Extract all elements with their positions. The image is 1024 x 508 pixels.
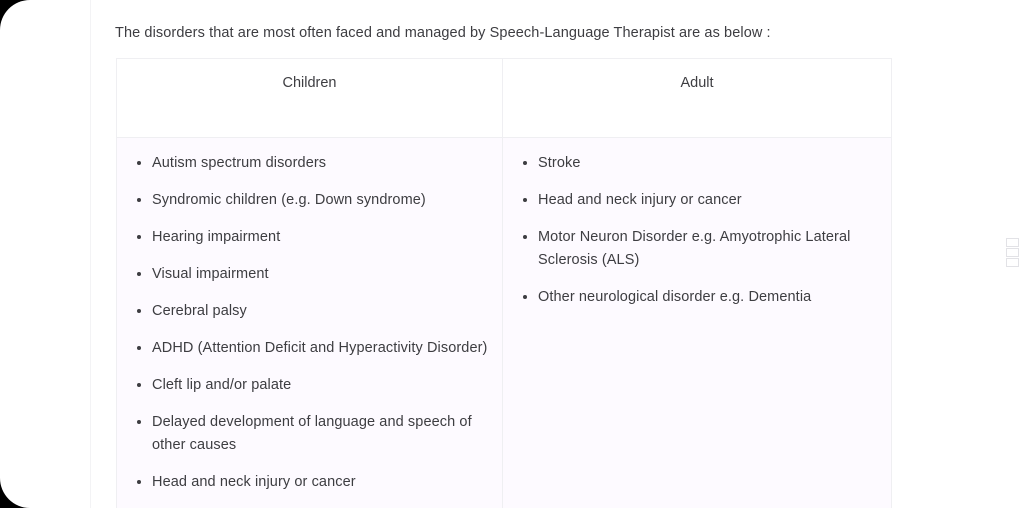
bullet-icon — [523, 235, 527, 239]
list-item: Syndromic children (e.g. Down syndrome) — [127, 189, 492, 212]
list-item-label: Cleft lip and/or palate — [152, 377, 291, 393]
list-item: Motor Neuron Disorder e.g. Amyotrophic L… — [513, 226, 881, 272]
list-item-label: Stroke — [538, 155, 581, 171]
adult-disorder-list: Stroke Head and neck injury or cancer Mo… — [513, 152, 881, 309]
list-item-label: Syndromic children (e.g. Down syndrome) — [152, 192, 426, 208]
list-item: Delayed development of language and spee… — [127, 411, 492, 457]
screenshot-canvas: The disorders that are most often faced … — [0, 0, 1024, 508]
square-icon[interactable] — [1006, 238, 1019, 247]
column-header-children: Children — [117, 59, 503, 138]
list-item: Visual impairment — [127, 263, 492, 286]
bullet-icon — [137, 235, 141, 239]
list-item: Cerebral palsy — [127, 300, 492, 323]
list-item: Autism spectrum disorders — [127, 152, 492, 175]
list-item-label: Visual impairment — [152, 266, 269, 282]
list-item-label: Cerebral palsy — [152, 303, 247, 319]
bullet-icon — [137, 161, 141, 165]
list-item: Cleft lip and/or palate — [127, 374, 492, 397]
bullet-icon — [137, 480, 141, 484]
table-header-row: Children Adult — [117, 59, 892, 138]
bullet-icon — [523, 198, 527, 202]
disorders-table: Children Adult Autism spectrum disorders — [116, 58, 892, 508]
table-body: Autism spectrum disorders Syndromic chil… — [117, 138, 892, 508]
square-icon[interactable] — [1006, 248, 1019, 257]
content-area: The disorders that are most often faced … — [91, 0, 1024, 508]
intro-paragraph: The disorders that are most often faced … — [115, 23, 935, 43]
bullet-icon — [523, 161, 527, 165]
stacked-squares-indicator[interactable] — [1006, 238, 1022, 267]
list-item-label: Autism spectrum disorders — [152, 155, 326, 171]
bullet-icon — [137, 309, 141, 313]
list-item-label: ADHD (Attention Deficit and Hyperactivit… — [152, 340, 487, 356]
device-frame-corner-bottom-left — [0, 450, 34, 508]
table-row: Autism spectrum disorders Syndromic chil… — [117, 138, 892, 508]
device-frame-corner-top-left — [0, 0, 34, 58]
list-item-label: Head and neck injury or cancer — [538, 192, 742, 208]
list-item: Other neurological disorder e.g. Dementi… — [513, 286, 881, 309]
bullet-icon — [137, 346, 141, 350]
cell-children-disorders: Autism spectrum disorders Syndromic chil… — [117, 138, 503, 508]
cell-adult-disorders: Stroke Head and neck injury or cancer Mo… — [503, 138, 892, 508]
bullet-icon — [137, 383, 141, 387]
column-header-adult: Adult — [503, 59, 892, 138]
list-item: ADHD (Attention Deficit and Hyperactivit… — [127, 337, 492, 360]
table-head: Children Adult — [117, 59, 892, 138]
bullet-icon — [523, 295, 527, 299]
bullet-icon — [137, 198, 141, 202]
list-item: Head and neck injury or cancer — [513, 189, 881, 212]
list-item-label: Hearing impairment — [152, 229, 280, 245]
list-item: Head and neck injury or cancer — [127, 471, 492, 494]
list-item-label: Delayed development of language and spee… — [152, 414, 472, 453]
children-disorder-list: Autism spectrum disorders Syndromic chil… — [127, 152, 492, 494]
list-item-label: Head and neck injury or cancer — [152, 474, 356, 490]
bullet-icon — [137, 272, 141, 276]
square-icon[interactable] — [1006, 258, 1019, 267]
list-item-label: Other neurological disorder e.g. Dementi… — [538, 289, 811, 305]
list-item: Hearing impairment — [127, 226, 492, 249]
bullet-icon — [137, 420, 141, 424]
list-item-label: Motor Neuron Disorder e.g. Amyotrophic L… — [538, 229, 850, 268]
list-item: Stroke — [513, 152, 881, 175]
